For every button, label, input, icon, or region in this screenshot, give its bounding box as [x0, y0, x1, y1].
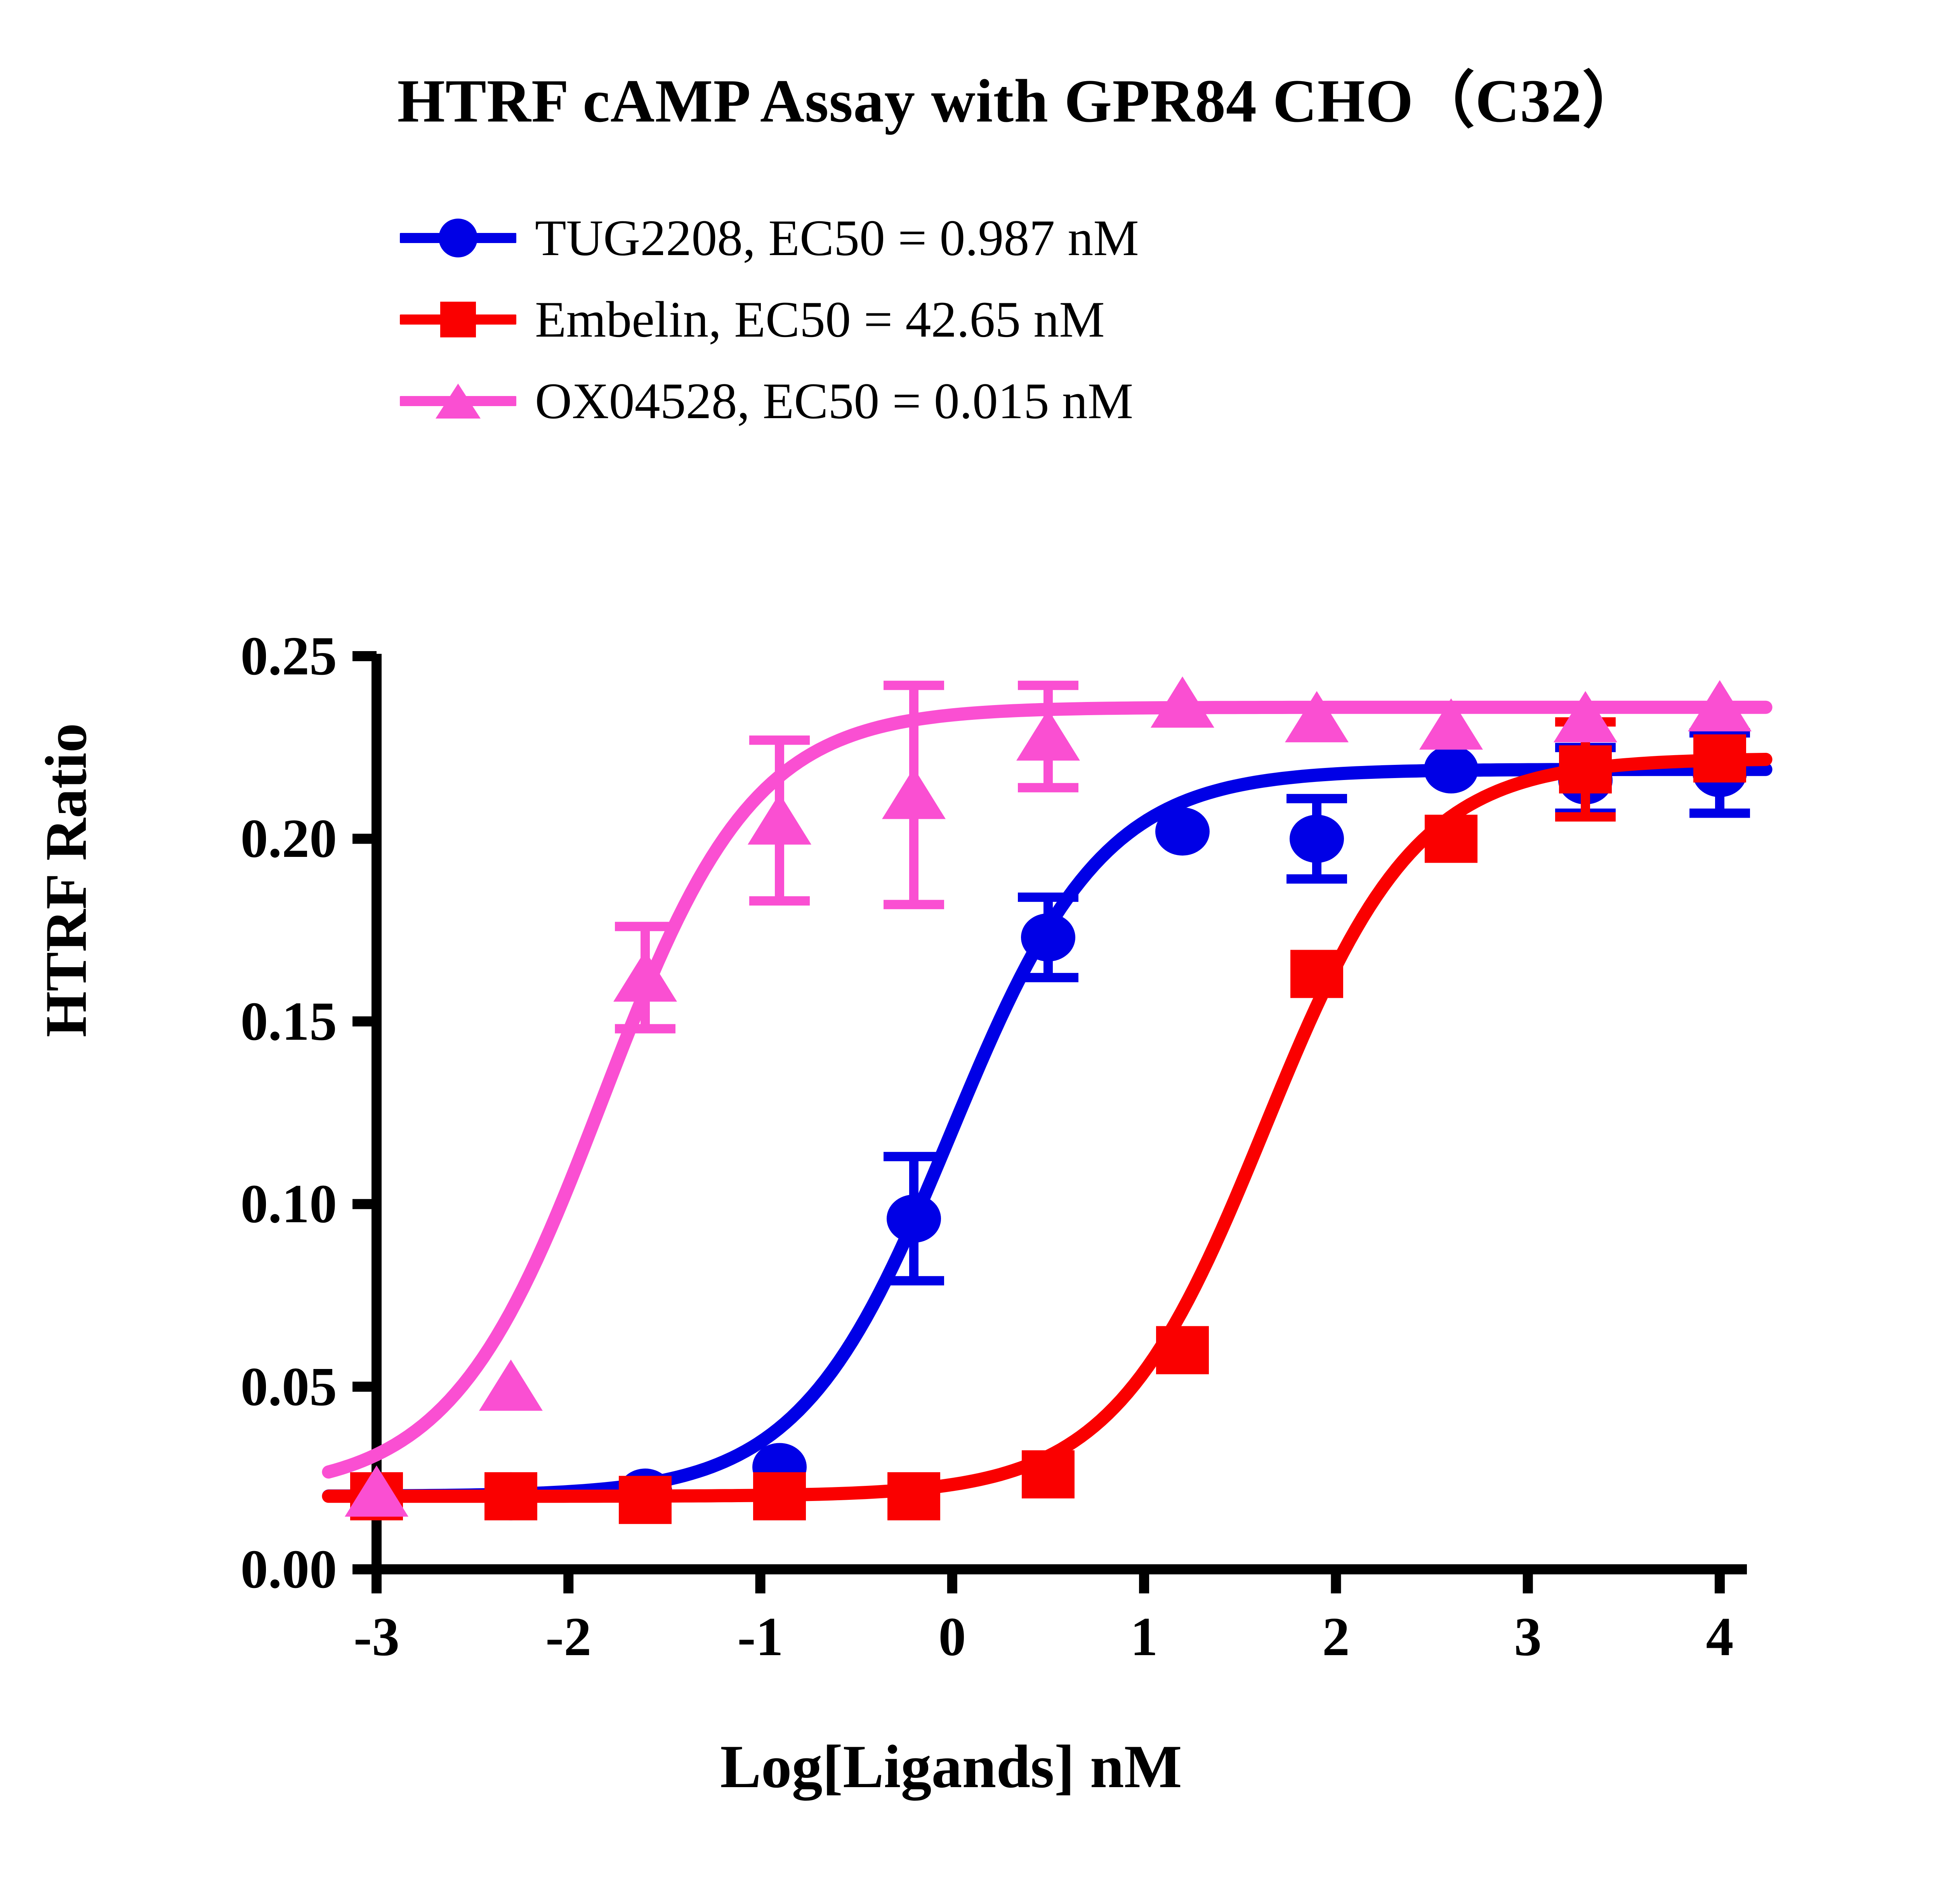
chart-page: HTRF cAMP Assay with GPR84 CHO（C32） TUG2… [0, 0, 1941, 1904]
x-tick-label: -2 [510, 1609, 627, 1664]
x-tick-label: 4 [1661, 1609, 1778, 1664]
data-point-circle [1155, 808, 1210, 856]
y-tick-label: 0.15 [104, 994, 337, 1049]
x-tick-label: -3 [318, 1609, 435, 1664]
plot-area: HTRF Ratio Log[Ligands] nM 0.000.050.100… [0, 0, 1941, 1904]
data-point-square [1559, 745, 1612, 794]
y-tick-label: 0.20 [104, 811, 337, 866]
data-point-circle [1424, 745, 1478, 794]
x-tick-label: 2 [1278, 1609, 1394, 1664]
data-point-square [619, 1476, 672, 1524]
x-tick-label: 0 [894, 1609, 1010, 1664]
data-point-square [1156, 1326, 1209, 1374]
series-curve-tug2208 [328, 770, 1766, 1496]
x-tick-label: 1 [1086, 1609, 1202, 1664]
x-axis-label: Log[Ligands] nM [0, 1732, 1902, 1802]
data-point-triangle [1554, 691, 1617, 742]
data-point-triangle [1016, 709, 1080, 761]
y-axis-label: HTRF Ratio [32, 686, 100, 1074]
data-point-square [887, 1472, 940, 1520]
x-tick-label: 3 [1470, 1609, 1586, 1664]
data-point-circle [887, 1195, 941, 1243]
data-point-circle [1290, 815, 1344, 863]
y-tick-label: 0.25 [104, 628, 337, 683]
data-point-circle [1021, 913, 1075, 961]
data-point-square [1022, 1450, 1075, 1498]
data-point-triangle [882, 768, 946, 819]
data-point-triangle [479, 1360, 543, 1411]
data-point-square [484, 1472, 537, 1520]
y-tick-label: 0.05 [104, 1359, 337, 1414]
series-curve-embelin [328, 759, 1766, 1496]
data-point-square [1425, 815, 1477, 863]
y-tick-label: 0.10 [104, 1176, 337, 1231]
y-tick-label: 0.00 [104, 1541, 337, 1597]
data-point-square [753, 1472, 806, 1520]
data-point-triangle [1285, 691, 1349, 742]
data-point-square [1290, 950, 1343, 998]
data-point-square [1693, 734, 1746, 782]
data-point-triangle [613, 950, 677, 1002]
series-curve-ox04528 [328, 707, 1766, 1472]
x-tick-label: -1 [702, 1609, 819, 1664]
